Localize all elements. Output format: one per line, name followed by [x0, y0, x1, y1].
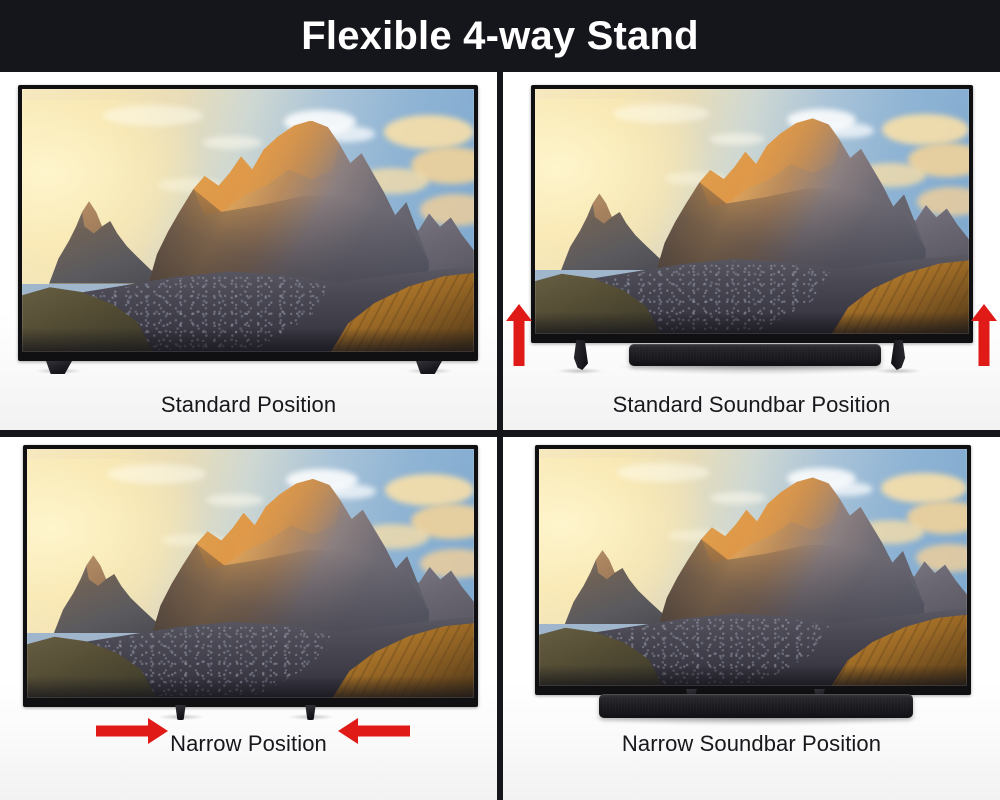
panel-narrow-position[interactable]: Narrow Position	[0, 437, 497, 800]
panel-standard-soundbar-position[interactable]: Standard Soundbar Position	[503, 72, 1000, 430]
soundbar-grille	[603, 698, 909, 714]
header-band: Flexible 4-way Stand	[0, 0, 1000, 72]
tv-screen	[535, 89, 969, 334]
page-title: Flexible 4-way Stand	[301, 16, 698, 56]
tv-bezel	[23, 445, 478, 707]
television-narrow	[23, 445, 478, 707]
foot-shadow	[557, 368, 603, 374]
screen-cloud	[107, 464, 205, 484]
screen-foreground-shadow	[535, 312, 969, 334]
tv-screen	[27, 449, 474, 698]
tv-screen	[539, 449, 967, 686]
product-feature-graphic: Flexible 4-way Stand	[0, 0, 1000, 800]
soundbar-shadow	[591, 717, 921, 726]
soundbar-grille	[633, 348, 877, 362]
arrow-up-icon-left	[506, 304, 532, 366]
panel-standard-position[interactable]: Standard Position	[0, 72, 497, 430]
television-standard-raised	[531, 85, 973, 343]
screen-cloud	[882, 114, 969, 146]
tv-bezel	[535, 445, 971, 695]
arrow-up-icon-right	[971, 304, 997, 366]
screen-foreground-shadow	[539, 665, 967, 686]
soundbar-shadow	[621, 366, 891, 375]
tv-bezel	[531, 85, 973, 343]
television-narrow-raised	[535, 445, 971, 695]
tv-bezel	[18, 85, 478, 361]
caption-narrow-soundbar-position: Narrow Soundbar Position	[503, 731, 1000, 757]
caption-narrow-position: Narrow Position	[0, 731, 497, 757]
caption-standard-position: Standard Position	[0, 392, 497, 418]
screen-cloud	[103, 105, 202, 126]
screen-cloud	[710, 492, 766, 504]
television-standard	[18, 85, 478, 361]
soundbar	[629, 344, 881, 366]
screen-foreground-shadow	[27, 676, 474, 698]
panel-grid: Standard Position	[0, 72, 1000, 800]
soundbar	[599, 694, 913, 718]
caption-standard-soundbar-position: Standard Soundbar Position	[503, 392, 1000, 418]
tv-screen	[22, 89, 474, 352]
screen-foreground-shadow	[22, 328, 474, 352]
screen-cloud	[613, 104, 708, 124]
panel-narrow-soundbar-position[interactable]: Narrow Soundbar Position	[503, 437, 1000, 800]
panel-divider-horizontal	[0, 430, 1000, 437]
screen-cloud	[385, 474, 474, 506]
